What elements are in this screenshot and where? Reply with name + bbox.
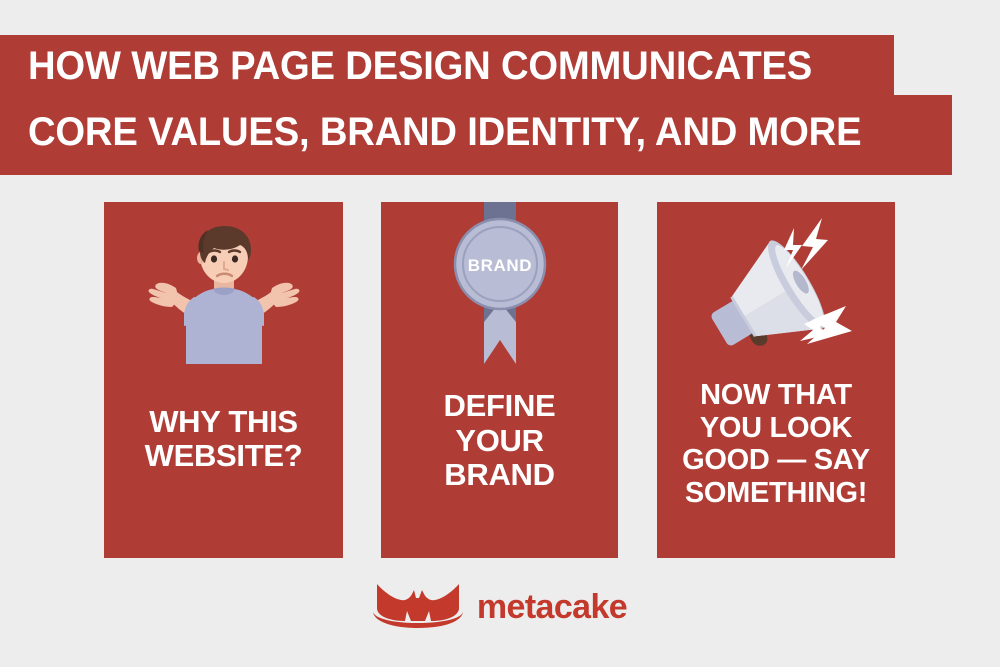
brand-ribbon-badge: BRAND xyxy=(381,202,618,392)
title-banner-row-2: CORE VALUES, BRAND IDENTITY, AND MORE xyxy=(0,95,952,175)
infographic-canvas: HOW WEB PAGE DESIGN COMMUNICATES CORE VA… xyxy=(0,0,1000,667)
caption-line: YOU LOOK xyxy=(663,412,889,444)
card-caption: NOW THAT YOU LOOK GOOD — SAY SOMETHING! xyxy=(663,379,889,509)
caption-line: GOOD — SAY xyxy=(663,444,889,476)
caption-line: SOMETHING! xyxy=(663,477,889,509)
card-say-something[interactable]: NOW THAT YOU LOOK GOOD — SAY SOMETHING! xyxy=(657,202,895,558)
footer-logo[interactable]: metacake xyxy=(0,578,1000,634)
card-caption: DEFINE YOUR BRAND xyxy=(387,389,612,493)
card-caption: WHY THIS WEBSITE? xyxy=(110,405,337,474)
title-line-2: CORE VALUES, BRAND IDENTITY, AND MORE xyxy=(28,112,861,152)
card-define-your-brand[interactable]: BRAND DEFINE YOUR BRAND xyxy=(381,202,618,558)
caption-line: NOW THAT xyxy=(663,379,889,411)
metacake-logo-mark xyxy=(373,578,465,635)
megaphone-icon xyxy=(657,202,895,392)
title-line-1: HOW WEB PAGE DESIGN COMMUNICATES xyxy=(28,46,812,86)
badge-label: BRAND xyxy=(467,256,531,275)
caption-line: WHY THIS xyxy=(110,405,337,440)
caption-line: YOUR xyxy=(387,424,612,459)
title-banner-row-1: HOW WEB PAGE DESIGN COMMUNICATES xyxy=(0,35,894,95)
card-why-this-website[interactable]: WHY THIS WEBSITE? xyxy=(104,202,343,558)
caption-line: BRAND xyxy=(387,458,612,493)
title-banner: HOW WEB PAGE DESIGN COMMUNICATES CORE VA… xyxy=(0,35,952,175)
shrugging-person-illustration xyxy=(104,202,343,392)
brand-name: metacake xyxy=(477,590,627,624)
caption-line: DEFINE xyxy=(387,389,612,424)
caption-line: WEBSITE? xyxy=(110,439,337,474)
